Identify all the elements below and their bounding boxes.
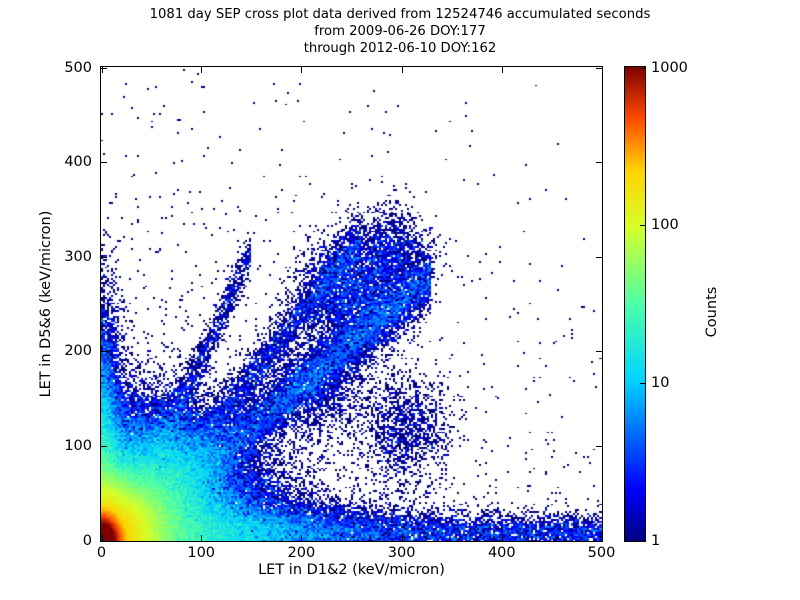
colorbar — [624, 66, 646, 542]
y-tick-mark — [101, 351, 107, 352]
y-tick-mark — [101, 162, 107, 163]
x-tick-mark — [402, 67, 403, 73]
x-tick-mark — [402, 535, 403, 541]
chart-title-line-1: 1081 day SEP cross plot data derived fro… — [0, 6, 800, 23]
chart-title: 1081 day SEP cross plot data derived fro… — [0, 6, 800, 57]
x-tick-label: 400 — [488, 545, 516, 561]
chart-title-line-3: through 2012-06-10 DOY:162 — [0, 40, 800, 57]
y-tick-mark — [596, 446, 602, 447]
y-tick-label: 500 — [32, 60, 92, 76]
y-tick-mark — [596, 257, 602, 258]
colorbar-tick-mark — [640, 225, 645, 226]
colorbar-tick-label: 100 — [651, 217, 679, 233]
x-axis-title: LET in D1&2 (keV/micron) — [100, 562, 603, 578]
y-tick-mark — [596, 541, 602, 542]
figure-canvas: 1081 day SEP cross plot data derived fro… — [0, 0, 800, 600]
density-scatter-canvas — [101, 67, 602, 541]
colorbar-tick-label: 1 — [651, 533, 660, 549]
colorbar-tick-mark — [640, 68, 645, 69]
y-axis-title: LET in D5&6 (keV/micron) — [38, 114, 54, 494]
plot-area — [100, 66, 603, 542]
y-tick-mark — [101, 446, 107, 447]
y-tick-mark — [101, 541, 107, 542]
colorbar-tick-label: 10 — [651, 375, 669, 391]
y-tick-mark — [101, 68, 107, 69]
x-tick-label: 200 — [288, 545, 316, 561]
y-tick-mark — [101, 257, 107, 258]
x-tick-mark — [301, 67, 302, 73]
colorbar-tick-label: 1000 — [651, 60, 688, 76]
x-tick-label: 500 — [588, 545, 616, 561]
x-tick-mark — [502, 535, 503, 541]
x-tick-mark — [201, 67, 202, 73]
y-tick-label: 0 — [32, 533, 92, 549]
x-tick-mark — [201, 535, 202, 541]
colorbar-gradient — [625, 67, 645, 541]
chart-title-line-2: from 2009-06-26 DOY:177 — [0, 23, 800, 40]
colorbar-title: Counts — [704, 212, 720, 412]
x-tick-mark — [301, 535, 302, 541]
y-tick-mark — [596, 351, 602, 352]
x-tick-label: 100 — [187, 545, 215, 561]
colorbar-tick-mark — [640, 383, 645, 384]
x-tick-mark — [502, 67, 503, 73]
x-tick-label: 300 — [388, 545, 416, 561]
colorbar-tick-mark — [640, 541, 645, 542]
y-tick-mark — [596, 162, 602, 163]
x-tick-label: 0 — [97, 545, 106, 561]
y-tick-mark — [596, 68, 602, 69]
